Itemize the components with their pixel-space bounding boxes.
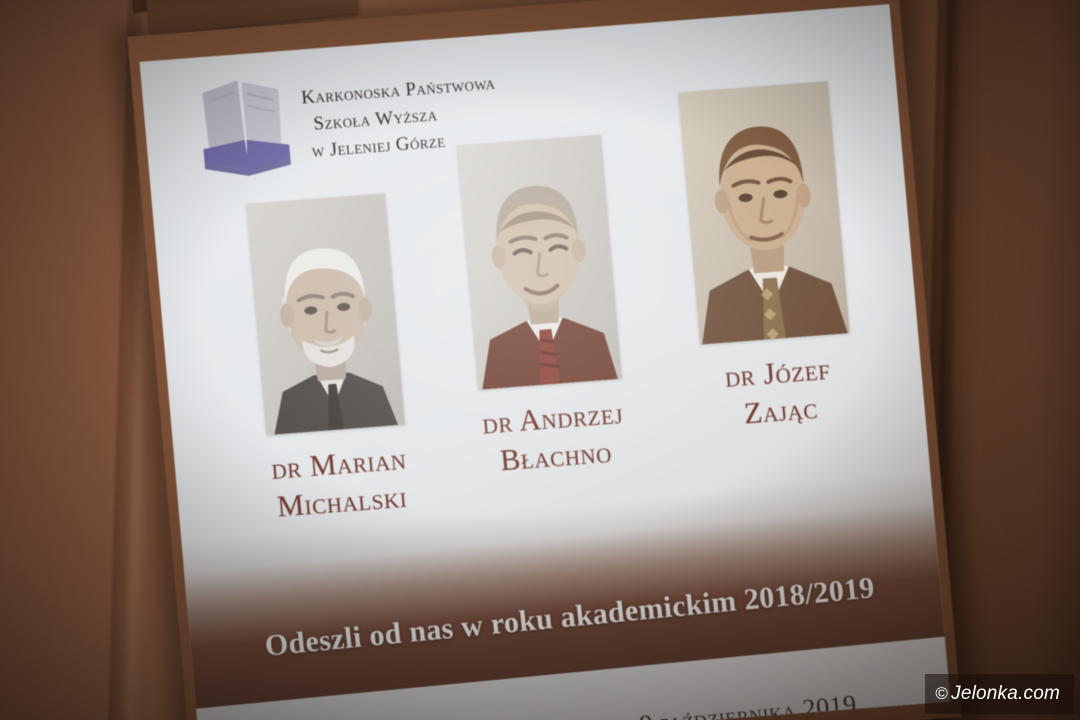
- person-card: dr Marian Michalski: [208, 191, 451, 531]
- portrait-andrzej-blachno: [457, 135, 622, 390]
- portrait-jozef-zajac: [678, 81, 850, 345]
- projection-screen: Karkonoska Państwowa Szkoła Wyższa w Jel…: [127, 0, 961, 720]
- screenshot-root: Karkonoska Państwowa Szkoła Wyższa w Jel…: [0, 0, 1080, 720]
- person-name: dr Marian Michalski: [230, 438, 451, 531]
- presentation-slide: Karkonoska Państwowa Szkoła Wyższa w Jel…: [139, 4, 950, 720]
- watermark-text: Jelonka.com: [951, 683, 1060, 704]
- copyright-icon: ©: [935, 684, 948, 703]
- portraits-row: dr Marian Michalski: [139, 4, 930, 530]
- portrait-marian-michalski: [246, 193, 405, 435]
- person-card: dr Józef Zając: [640, 78, 894, 440]
- watermark: ©Jelonka.com: [925, 674, 1074, 714]
- person-name: dr Andrzej Błachno: [439, 392, 670, 486]
- person-name: dr Józef Zając: [664, 346, 895, 440]
- person-card: dr Andrzej Błachno: [416, 132, 670, 486]
